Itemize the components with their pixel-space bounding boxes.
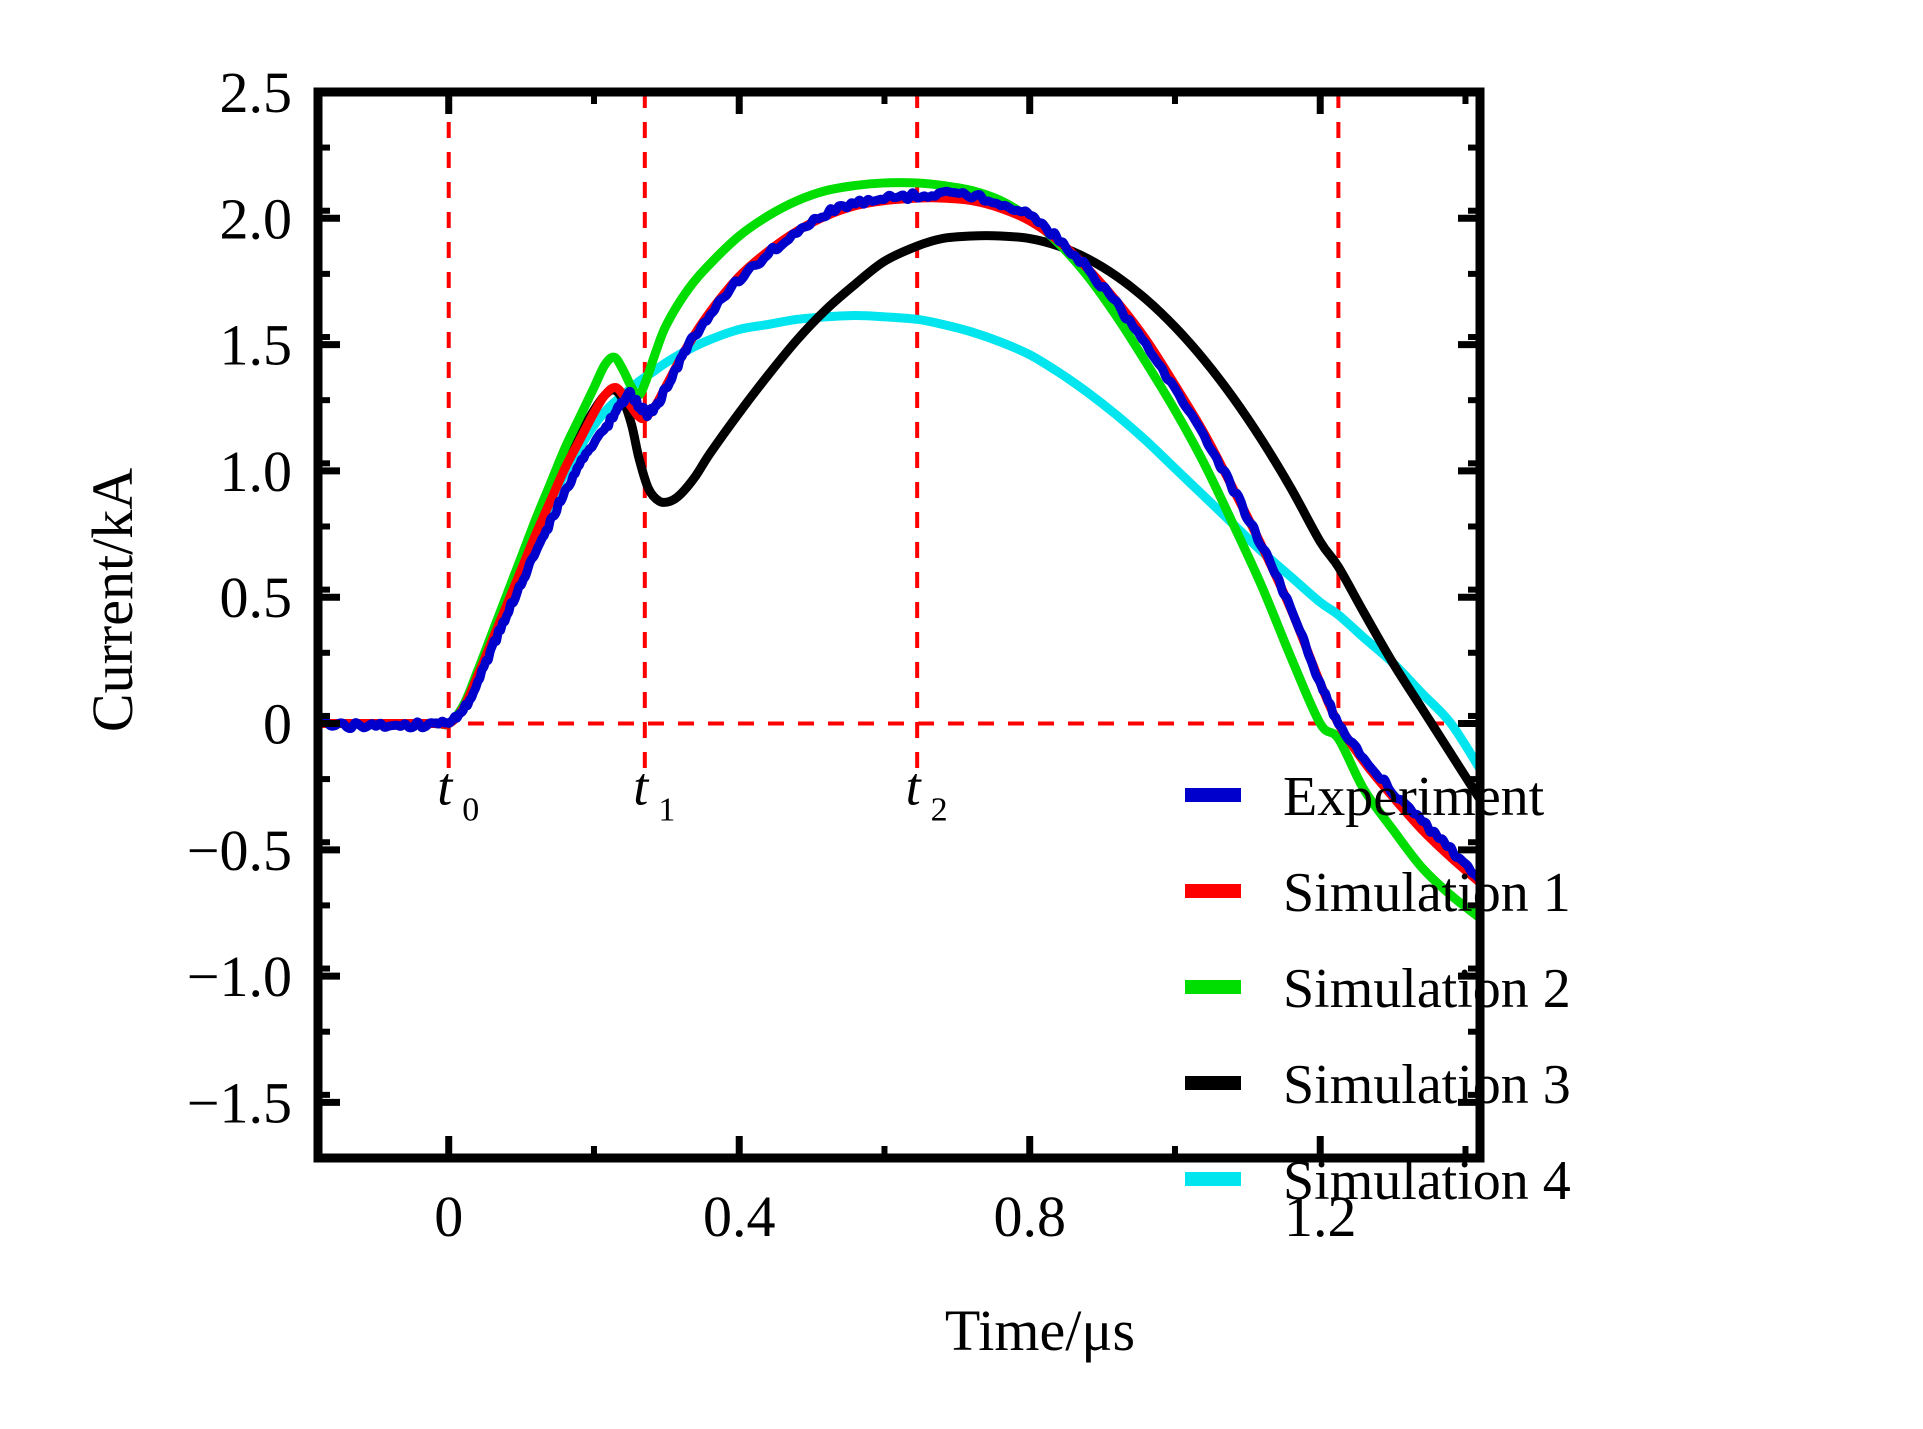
y-tick-label: 2.0	[220, 186, 293, 251]
time-marker-letter: t	[906, 756, 923, 816]
legend-label: Simulation 4	[1283, 1150, 1571, 1212]
chart-canvas: 2.52.01.51.00.50−0.5−1.0−1.500.40.81.2 t…	[0, 0, 1923, 1429]
legend-label: Simulation 2	[1283, 958, 1571, 1020]
y-axis-title: Current/kA	[80, 468, 145, 732]
x-tick-label: 0	[434, 1184, 463, 1249]
y-tick-label: 1.0	[220, 439, 293, 504]
time-marker-subscript: 1	[658, 791, 675, 828]
y-tick-label: 2.5	[220, 60, 293, 125]
x-axis-title: Time/μs	[945, 1298, 1135, 1363]
time-marker-letter: t	[633, 756, 650, 816]
x-tick-label: 0.4	[703, 1184, 776, 1249]
legend-label: Simulation 3	[1283, 1054, 1571, 1116]
y-tick-label: 1.5	[220, 313, 293, 378]
y-tick-label: −0.5	[187, 818, 292, 883]
y-tick-label: −1.0	[187, 944, 292, 1009]
x-tick-label: 0.8	[993, 1184, 1066, 1249]
y-tick-label: −1.5	[187, 1070, 292, 1135]
current-vs-time-chart: 2.52.01.51.00.50−0.5−1.0−1.500.40.81.2 t…	[0, 0, 1923, 1429]
legend-label: Simulation 1	[1283, 862, 1571, 924]
time-marker-subscript: 0	[462, 791, 479, 828]
time-marker-letter: t	[437, 756, 454, 816]
y-tick-label: 0.5	[220, 565, 293, 630]
time-marker-subscript: 2	[931, 791, 948, 828]
y-tick-label: 0	[263, 692, 292, 757]
legend-label: Experiment	[1283, 766, 1545, 828]
